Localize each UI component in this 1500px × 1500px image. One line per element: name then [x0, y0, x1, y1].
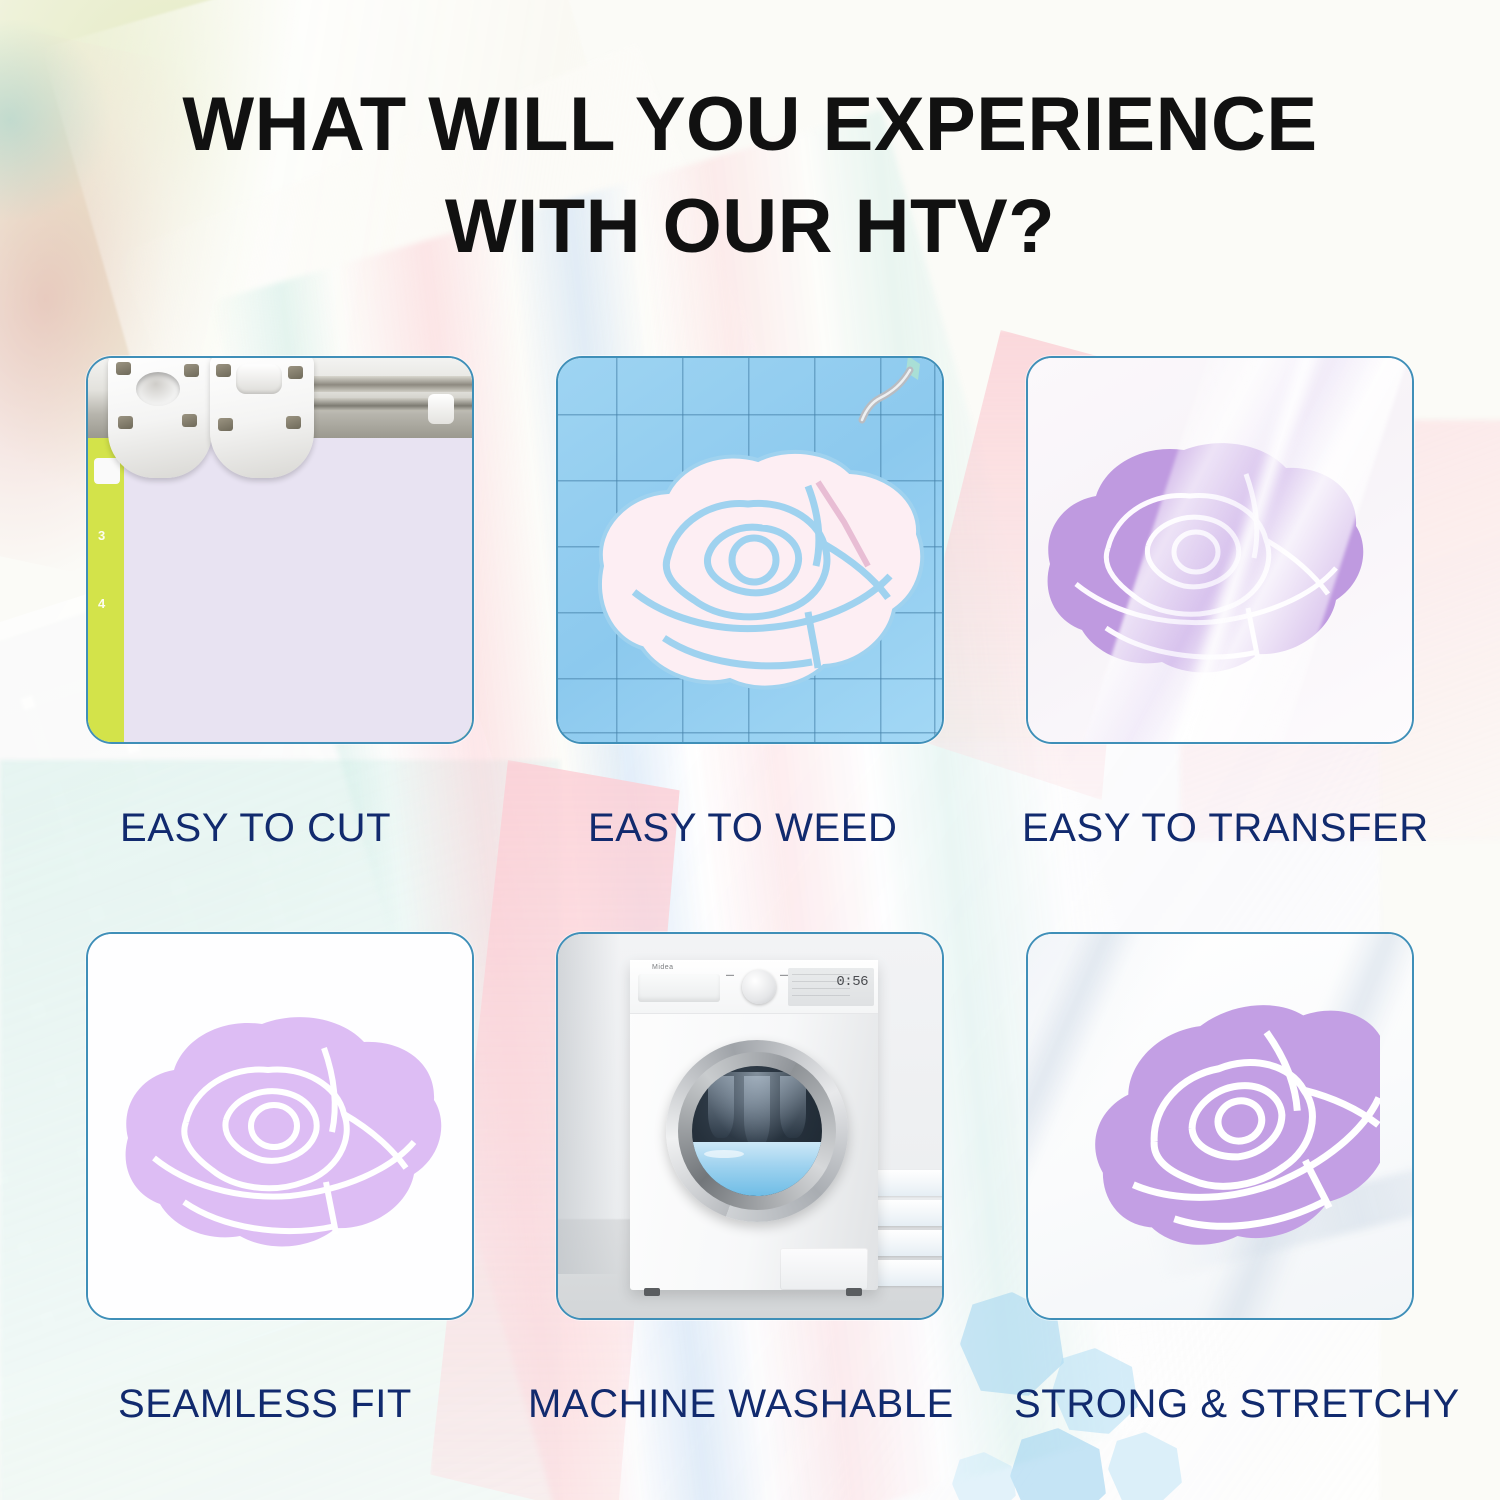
weeding-hook-tool [858, 356, 924, 444]
towel-1 [870, 1170, 944, 1196]
feature-image-easy-to-transfer[interactable] [1026, 356, 1414, 744]
program-selector-dial[interactable] [742, 970, 776, 1004]
caption-easy-to-cut: EASY TO CUT [120, 806, 391, 851]
seamless-rose-decal [114, 992, 450, 1270]
laundry-room-scene: Midea ▬▬ ▬▬ 0:56 [558, 934, 942, 1318]
drum-paddle-right [780, 1076, 806, 1138]
caption-easy-to-weed: EASY TO WEED [588, 806, 898, 851]
washer-door-inner-ring [678, 1052, 836, 1210]
feature-image-seamless-fit[interactable] [86, 932, 474, 1320]
washer-water [692, 1142, 822, 1196]
carriage-blade-knob [236, 364, 282, 394]
feature-image-easy-to-weed[interactable] [556, 356, 944, 744]
wall-shadow [558, 934, 620, 1274]
towel-2 [870, 1200, 944, 1226]
washer-brand-label: Midea [652, 964, 674, 971]
carriage-screw-a1 [116, 362, 131, 375]
washer-foot-right [846, 1288, 862, 1296]
carriage-screw-b2 [288, 366, 303, 379]
drum-paddle-left [708, 1076, 734, 1138]
carriage-right [210, 356, 314, 478]
washing-machine-body: Midea ▬▬ ▬▬ 0:56 [630, 960, 878, 1290]
dial-label-right: ▬▬ [780, 972, 788, 977]
washer-digital-display: 0:56 [788, 968, 874, 1006]
feature-image-machine-washable[interactable]: Midea ▬▬ ▬▬ 0:56 [556, 932, 944, 1320]
dial-label-left: ▬▬ [726, 972, 734, 977]
folded-towels-stack [870, 1170, 944, 1292]
washer-door-outer-ring [666, 1040, 848, 1222]
carriage-screw-b1 [216, 364, 231, 377]
carriage-screw-a2 [184, 364, 199, 377]
mat-ruler-number-4: 4 [98, 596, 105, 611]
carriage-pen-socket [136, 372, 180, 406]
washer-filter-hatch [780, 1248, 868, 1290]
detergent-drawer [638, 974, 720, 1002]
feature-grid: 2 3 4 [0, 0, 1500, 1500]
rail-clip [428, 394, 454, 424]
carriage-screw-a4 [182, 414, 197, 427]
stretchy-rose-decal [1080, 990, 1380, 1270]
carriage-left [108, 356, 212, 478]
caption-seamless-fit: SEAMLESS FIT [118, 1382, 412, 1427]
washer-control-panel: Midea ▬▬ ▬▬ 0:56 [630, 960, 878, 1014]
caption-strong-and-stretchy: STRONG & STRETCHY [1014, 1382, 1460, 1427]
drum-paddle-center [744, 1076, 770, 1148]
weeded-rose-cutout [572, 416, 944, 716]
cutting-machine-scene: 2 3 4 [88, 358, 472, 742]
mat-ruler-number-3: 3 [98, 528, 105, 543]
washer-foot-left [644, 1288, 660, 1296]
washer-time-remaining: 0:56 [836, 974, 868, 990]
caption-machine-washable: MACHINE WASHABLE [528, 1382, 954, 1427]
caption-easy-to-transfer: EASY TO TRANSFER [1022, 806, 1429, 851]
feature-image-strong-and-stretchy[interactable] [1026, 932, 1414, 1320]
feature-image-easy-to-cut[interactable]: 2 3 4 [86, 356, 474, 744]
carriage-screw-a3 [118, 416, 133, 429]
towel-4 [870, 1260, 944, 1286]
carriage-screw-b4 [286, 416, 301, 429]
machine-guide-bar-upper [288, 376, 474, 392]
towel-3 [870, 1230, 944, 1256]
carriage-screw-b3 [218, 418, 233, 431]
mat-corner-tab [94, 458, 120, 484]
washer-door-glass [692, 1066, 822, 1196]
